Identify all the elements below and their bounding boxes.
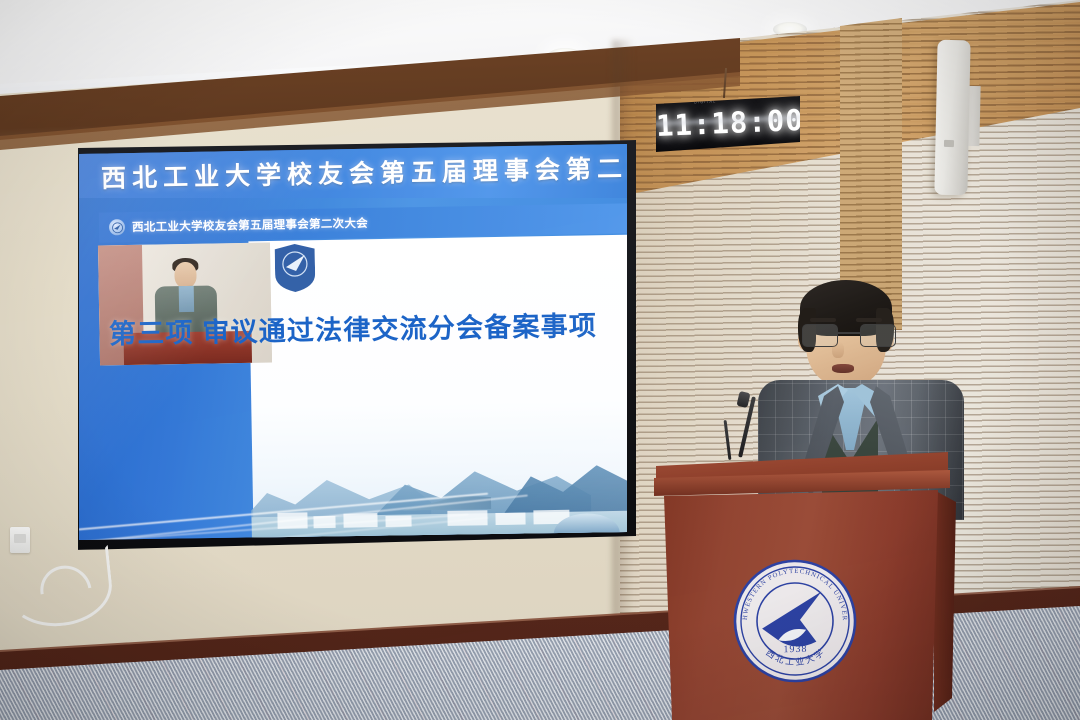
- person-nose: [832, 342, 844, 358]
- podium: NORTHWESTERN POLYTECHNICAL UNIVERSITY 西北…: [648, 452, 948, 720]
- slide-emblem-badge-icon: [275, 244, 316, 293]
- speaker-brand-badge: [944, 140, 954, 147]
- nwpu-university-emblem: NORTHWESTERN POLYTECHNICAL UNIVERSITY 西北…: [729, 555, 861, 687]
- screen-content-area: 西北工业大学校友会第五届理事会第二次会议: [79, 140, 627, 550]
- emblem-founding-year: 1938: [783, 644, 807, 655]
- glasses-lens: [860, 324, 896, 347]
- led-display-screen[interactable]: 西北工业大学校友会第五届理事会第二次会议: [70, 140, 636, 550]
- wall-speaker: [934, 40, 970, 196]
- feed-person-head: [174, 262, 196, 288]
- person-eyebrow: [810, 318, 836, 322]
- feed-person-shirt: [179, 286, 194, 312]
- slide-header-bar-text: 西北工业大学校友会第五届理事会第二次大会: [132, 215, 368, 235]
- screen-banner-title: 西北工业大学校友会第五届理事会第二次会议: [101, 149, 622, 195]
- person-eyebrow: [856, 318, 882, 322]
- eyeglasses-icon: [802, 324, 894, 346]
- power-outlet[interactable]: [10, 527, 30, 553]
- glasses-bridge: [836, 332, 860, 334]
- person-mouth: [832, 364, 854, 373]
- nwpu-emblem-icon: [109, 219, 125, 235]
- conference-hall-photo: DIGITAL 11:18:00 西北工业大学校友会第五届理事会第二次会议: [0, 0, 1080, 720]
